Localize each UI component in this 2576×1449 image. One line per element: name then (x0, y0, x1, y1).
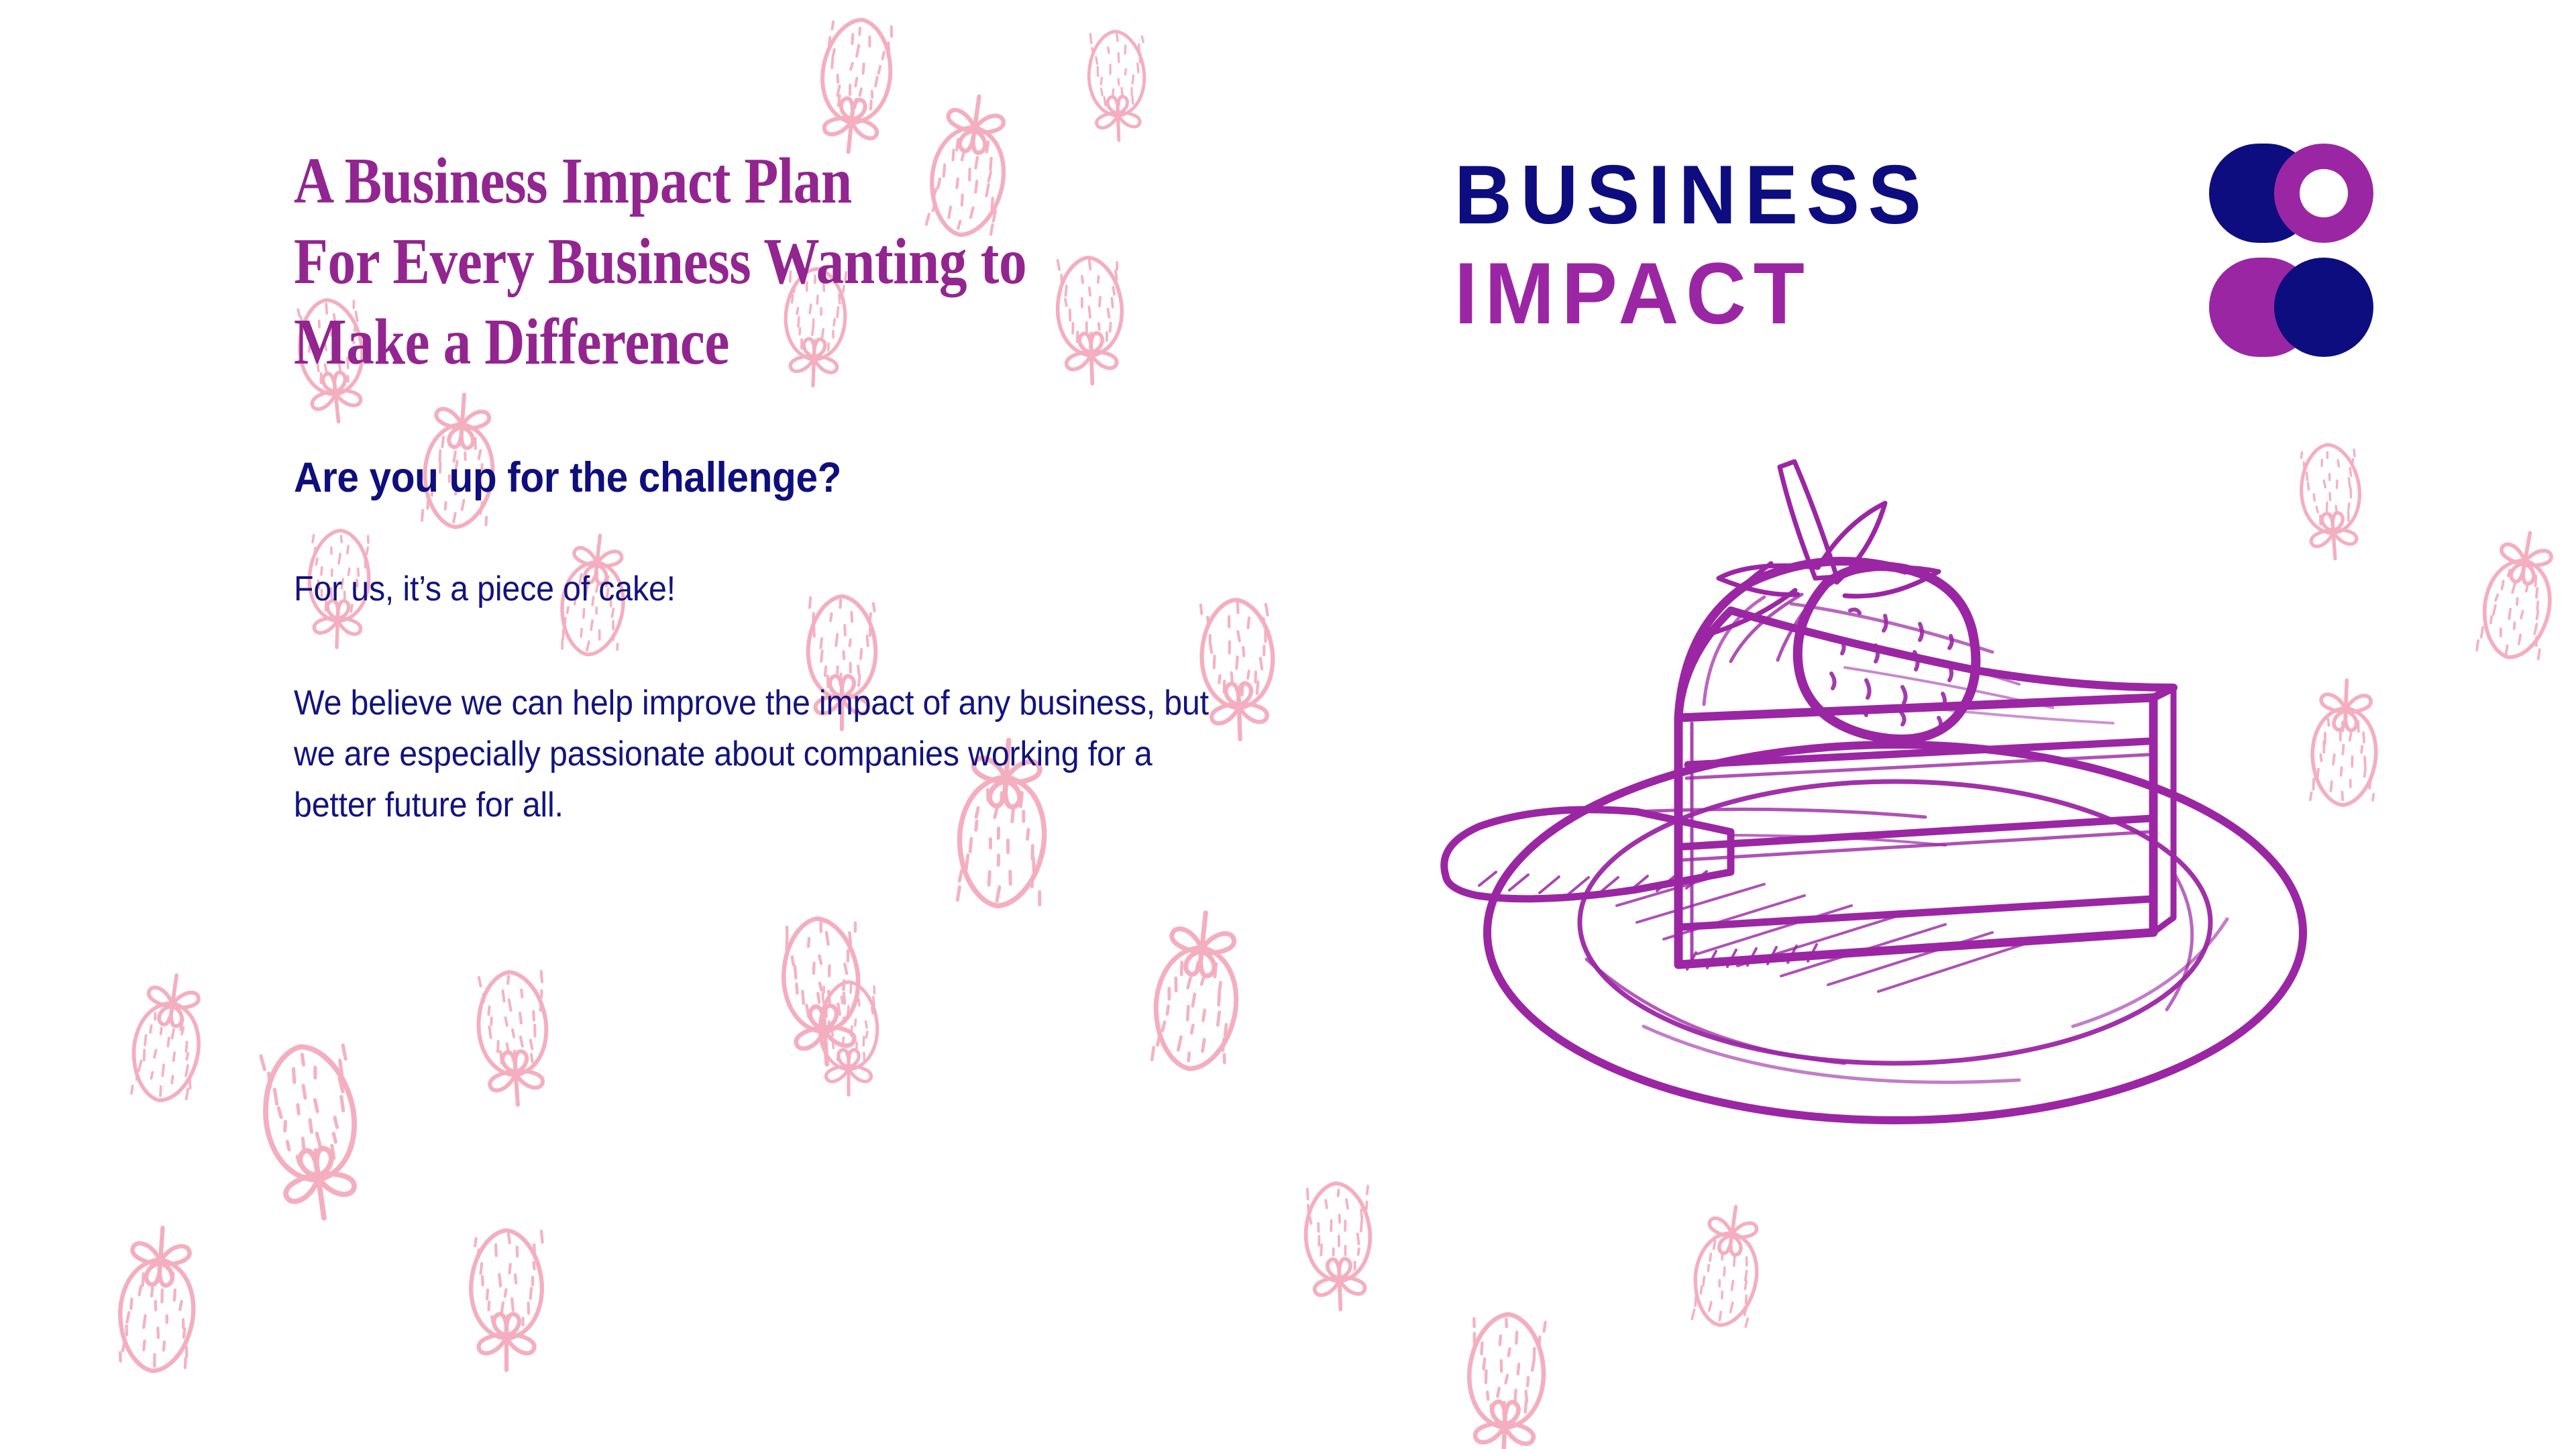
body-paragraph-cake: For us, it’s a piece of cake! (294, 563, 1230, 614)
cake-strawberry-icon (1697, 462, 1976, 739)
cake-slice-drawing (1415, 402, 2368, 1154)
strawberry-icon (243, 1031, 381, 1232)
logo-mark-purple-ring-icon (2274, 144, 2373, 243)
strawberry-icon (117, 965, 219, 1112)
logo-line-business: BUSINESS (1454, 152, 1949, 239)
strawberry-icon (1137, 901, 1257, 1081)
body-paragraph-belief: We believe we can help improve the impac… (294, 678, 1248, 830)
page-title: A Business Impact Plan For Every Busines… (294, 141, 1275, 382)
subheading: Are you up for the challenge? (294, 453, 841, 502)
strawberry-icon (461, 1224, 553, 1376)
logo-line-impact: IMPACT (1454, 250, 1827, 337)
logo-word-business: BUSINESS (1454, 154, 1929, 237)
text-column: A Business Impact Plan For Every Busines… (294, 141, 1434, 382)
strawberry-icon (465, 963, 562, 1114)
strawberry-icon (768, 909, 875, 1074)
strawberry-icon (1680, 1197, 1776, 1336)
business-impact-logo[interactable]: BUSINESS IMPACT (1454, 134, 2367, 376)
strawberry-icon (2466, 521, 2571, 670)
strawberry-icon (1295, 1176, 1383, 1316)
strawberry-icon (804, 9, 906, 162)
strawberry-icon (105, 1219, 210, 1381)
logo-word-impact: IMPACT (1454, 252, 1811, 335)
strawberry-icon (1079, 25, 1155, 146)
slide-canvas: A Business Impact Plan For Every Busines… (0, 0, 2576, 1449)
strawberry-icon (812, 977, 886, 1099)
cake-slice-illustration (1415, 402, 2368, 1154)
strawberry-icon (1455, 1306, 1556, 1449)
logo-mark-icon (2209, 144, 2373, 358)
logo-mark-navy-circle-icon (2274, 258, 2373, 357)
